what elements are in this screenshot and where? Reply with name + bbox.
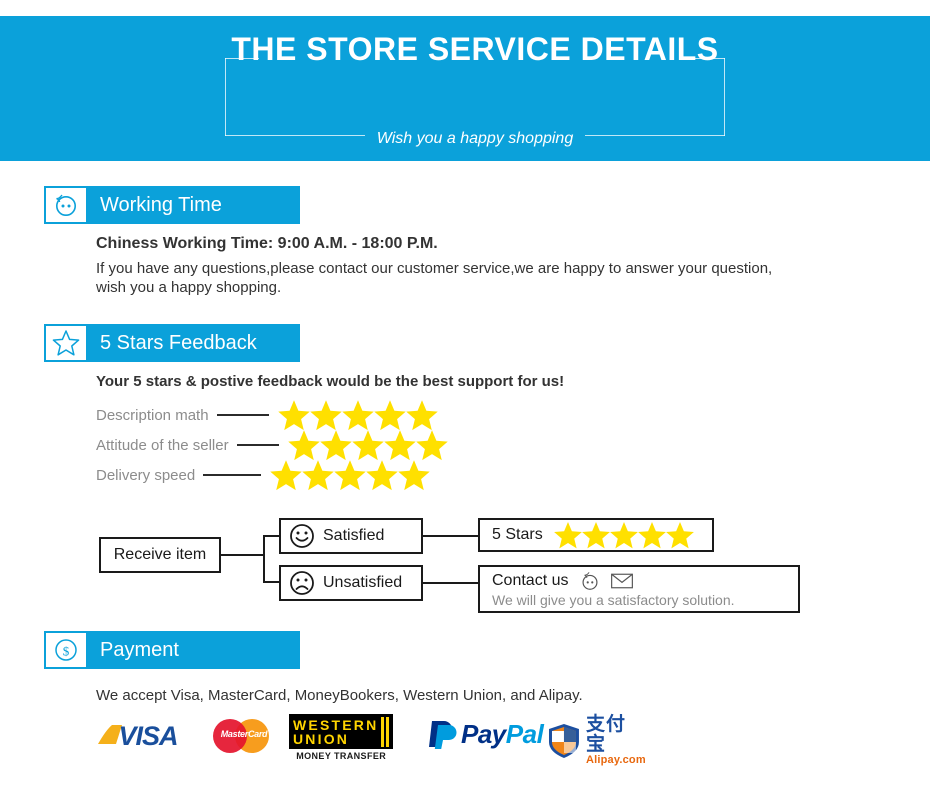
star-icon bbox=[333, 458, 367, 492]
star-icon bbox=[637, 520, 667, 550]
paypal-mark-icon bbox=[423, 718, 457, 750]
flow-box-unsatisfied: Unsatisfied bbox=[279, 565, 423, 601]
rating-stars bbox=[277, 398, 437, 432]
visa-logo: VISA bbox=[96, 718, 200, 757]
paypal-logo: Pay Pal bbox=[423, 718, 543, 750]
star-icon bbox=[383, 428, 417, 462]
chat-face-icon bbox=[46, 188, 86, 222]
star-icon bbox=[609, 520, 639, 550]
rating-label: Attitude of the seller bbox=[96, 437, 229, 454]
chat-face-icon bbox=[578, 571, 602, 591]
rating-connector bbox=[237, 444, 279, 446]
flow-box-satisfied: Satisfied bbox=[279, 518, 423, 554]
flow-connector-up bbox=[263, 535, 279, 537]
rating-label: Description math bbox=[96, 407, 209, 424]
alipay-shield-icon bbox=[547, 723, 581, 759]
star-icon bbox=[351, 428, 385, 462]
star-icon bbox=[277, 398, 311, 432]
alipay-logo: 支付宝 Alipay.com bbox=[547, 715, 646, 766]
hero-banner: THE STORE SERVICE DETAILS Wish you a hap… bbox=[0, 16, 930, 161]
star-icon bbox=[269, 458, 303, 492]
star-icon bbox=[405, 398, 439, 432]
rating-row-3: Delivery speed bbox=[96, 458, 429, 492]
star-icon bbox=[415, 428, 449, 462]
section-title-working-time: Working Time bbox=[100, 194, 222, 217]
rating-row-1: Description math bbox=[96, 398, 437, 432]
section-title-feedback: 5 Stars Feedback bbox=[100, 332, 257, 355]
rating-label: Delivery speed bbox=[96, 467, 195, 484]
contact-us-subtext: We will give you a satisfactory solution… bbox=[492, 592, 735, 608]
dollar-coin-icon: $ bbox=[46, 633, 86, 667]
rating-connector bbox=[217, 414, 269, 416]
working-time-note-line1: If you have any questions,please contact… bbox=[96, 260, 772, 277]
rating-stars bbox=[269, 458, 429, 492]
frowny-face-icon bbox=[289, 570, 315, 596]
star-icon bbox=[287, 428, 321, 462]
section-title-payment: Payment bbox=[100, 639, 179, 662]
star-outline-icon bbox=[46, 326, 86, 360]
page-subtitle: Wish you a happy shopping bbox=[225, 130, 725, 148]
flow-label: Unsatisfied bbox=[323, 574, 402, 592]
working-time-note-line2: wish you a happy shopping. bbox=[96, 279, 281, 296]
rating-row-2: Attitude of the seller bbox=[96, 428, 447, 462]
flow-connector-satisfied bbox=[423, 535, 479, 537]
western-union-logo: WESTERN UNION MONEY TRANSFER bbox=[289, 714, 393, 761]
star-icon bbox=[309, 398, 343, 432]
frame-line-right bbox=[724, 58, 725, 136]
star-icon bbox=[373, 398, 407, 432]
flow-box-contact-us: Contact us We will give you a satisfacto… bbox=[478, 565, 800, 613]
western-union-box: WESTERN UNION bbox=[289, 714, 393, 749]
flow-label: Satisfied bbox=[323, 527, 384, 545]
flow-connector-down bbox=[263, 581, 279, 583]
contact-us-label: Contact us bbox=[492, 572, 568, 590]
five-stars-rating bbox=[553, 520, 693, 550]
svg-text:$: $ bbox=[63, 644, 70, 659]
visa-text: VISA bbox=[96, 721, 200, 752]
section-banner-working-time: Working Time bbox=[44, 186, 300, 224]
hero-frame: THE STORE SERVICE DETAILS Wish you a hap… bbox=[225, 58, 725, 136]
western-union-line1: WESTERN bbox=[293, 718, 378, 732]
page-title: THE STORE SERVICE DETAILS bbox=[225, 31, 725, 68]
payment-note: We accept Visa, MasterCard, MoneyBookers… bbox=[96, 687, 583, 704]
star-icon bbox=[301, 458, 335, 492]
paypal-text-pal: Pal bbox=[506, 719, 544, 750]
frame-line-left bbox=[225, 58, 226, 136]
alipay-domain-text: Alipay.com bbox=[586, 755, 646, 767]
western-union-bars bbox=[381, 717, 389, 747]
star-icon bbox=[319, 428, 353, 462]
working-time-hours: Chiness Working Time: 9:00 A.M. - 18:00 … bbox=[96, 235, 438, 253]
mastercard-logo: MasterCard bbox=[213, 715, 275, 755]
section-banner-payment: $ Payment bbox=[44, 631, 300, 669]
section-banner-feedback: 5 Stars Feedback bbox=[44, 324, 300, 362]
star-icon bbox=[397, 458, 431, 492]
rating-connector bbox=[203, 474, 261, 476]
star-icon bbox=[341, 398, 375, 432]
western-union-line2: UNION bbox=[293, 732, 378, 746]
paypal-text-pay: Pay bbox=[461, 719, 506, 750]
mastercard-text: MasterCard bbox=[213, 729, 275, 739]
feedback-headline: Your 5 stars & postive feedback would be… bbox=[96, 373, 564, 390]
smiley-face-icon bbox=[289, 523, 315, 549]
western-union-subtitle: MONEY TRANSFER bbox=[289, 751, 393, 761]
envelope-icon bbox=[610, 572, 634, 590]
flow-connector-vertical bbox=[263, 535, 265, 583]
five-stars-label: 5 Stars bbox=[492, 526, 543, 544]
flow-box-receive-item: Receive item bbox=[99, 537, 221, 573]
star-icon bbox=[553, 520, 583, 550]
flow-box-five-stars: 5 Stars bbox=[478, 518, 714, 552]
flow-label: Receive item bbox=[114, 546, 206, 564]
alipay-chinese-text: 支付宝 bbox=[586, 715, 646, 755]
flow-connector-trunk bbox=[221, 554, 265, 556]
star-icon bbox=[665, 520, 695, 550]
star-icon bbox=[365, 458, 399, 492]
star-icon bbox=[581, 520, 611, 550]
rating-stars bbox=[287, 428, 447, 462]
flow-connector-unsatisfied bbox=[423, 582, 479, 584]
